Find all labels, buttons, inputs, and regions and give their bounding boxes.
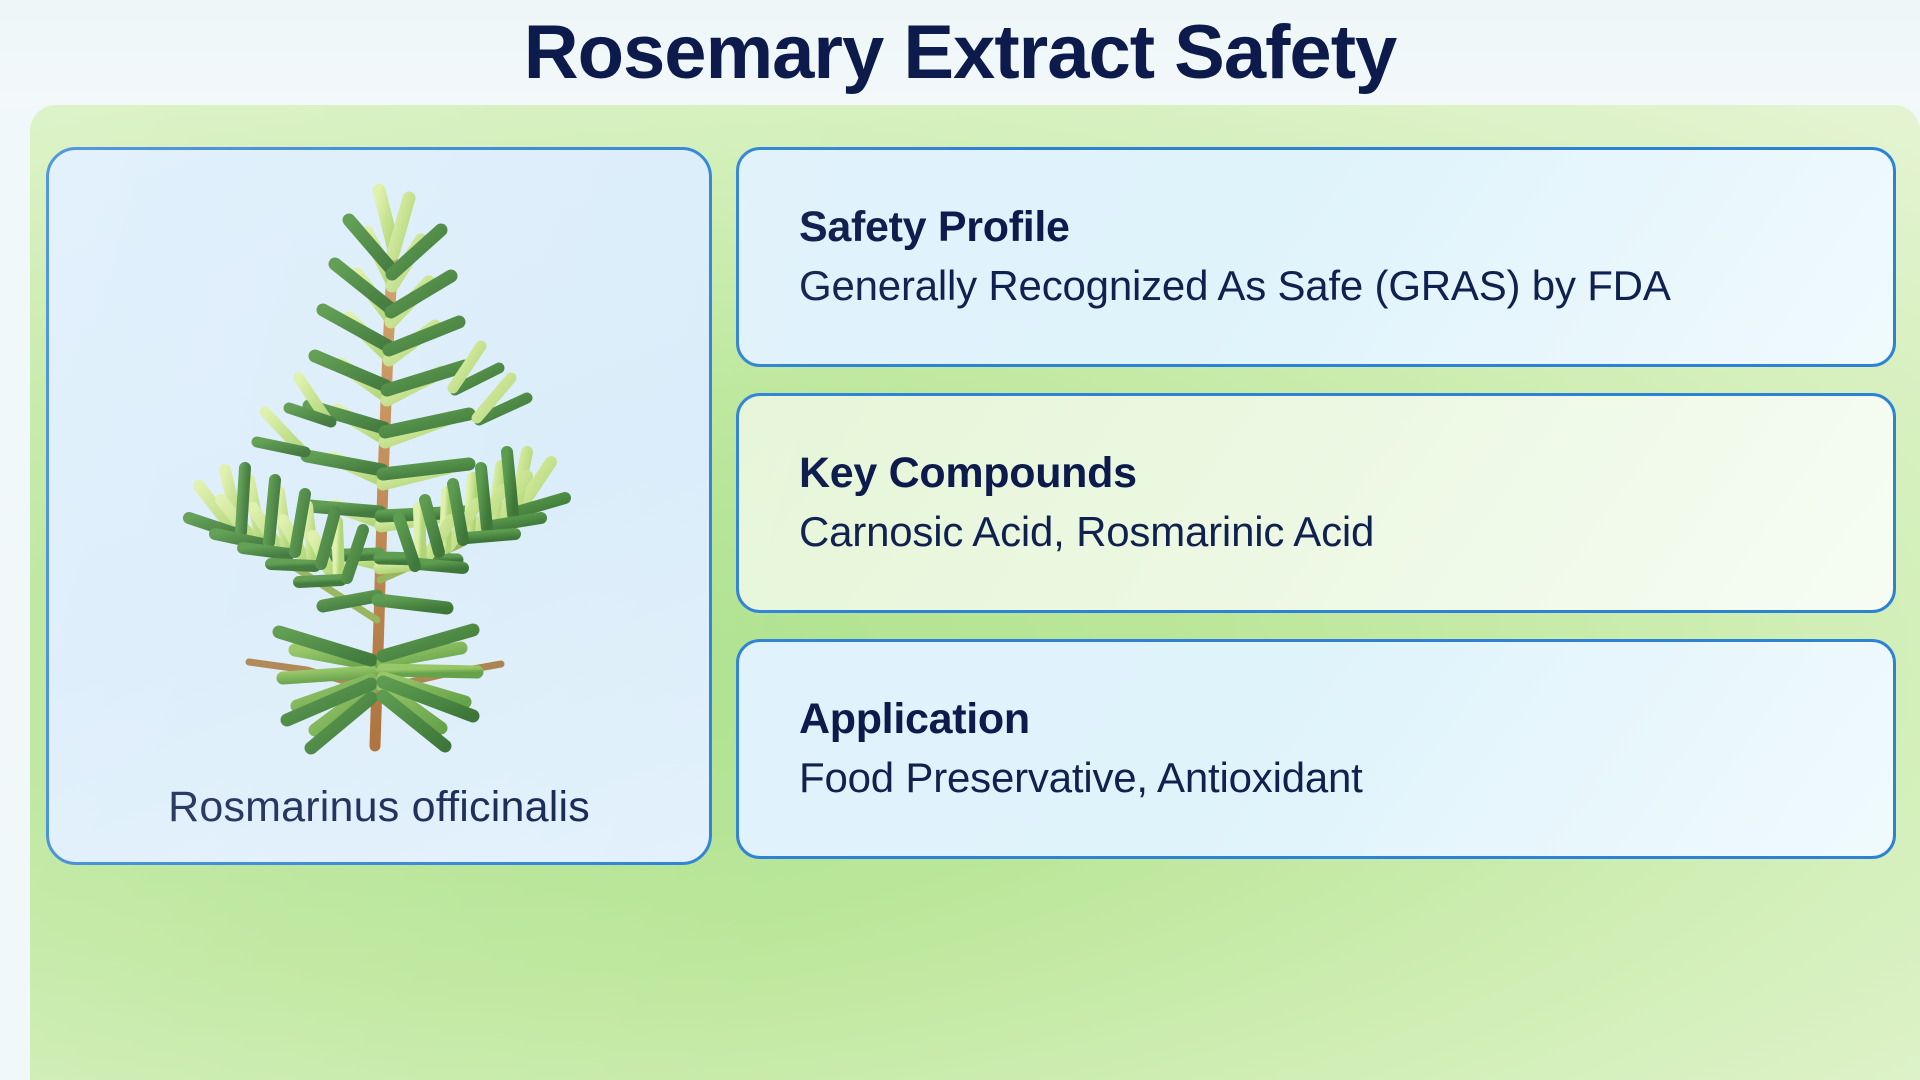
rosemary-sprig-illustration bbox=[49, 150, 709, 770]
title-bar: Rosemary Extract Safety bbox=[0, 0, 1920, 105]
page-title: Rosemary Extract Safety bbox=[524, 15, 1397, 91]
content-stage: Rosmarinus officinalis Safety Profile Ge… bbox=[30, 105, 1920, 1080]
species-caption: Rosmarinus officinalis bbox=[49, 783, 709, 832]
card-body: Generally Recognized As Safe (GRAS) by F… bbox=[799, 260, 1833, 311]
card-title: Key Compounds bbox=[799, 451, 1833, 496]
card-application[interactable]: Application Food Preservative, Antioxida… bbox=[736, 639, 1896, 859]
card-safety-profile[interactable]: Safety Profile Generally Recognized As S… bbox=[736, 147, 1896, 367]
info-card-list: Safety Profile Generally Recognized As S… bbox=[736, 147, 1896, 859]
card-key-compounds[interactable]: Key Compounds Carnosic Acid, Rosmarinic … bbox=[736, 393, 1896, 613]
card-title: Safety Profile bbox=[799, 205, 1833, 250]
plant-image-card: Rosmarinus officinalis bbox=[46, 147, 712, 865]
card-body: Carnosic Acid, Rosmarinic Acid bbox=[799, 506, 1833, 557]
card-title: Application bbox=[799, 697, 1833, 742]
card-body: Food Preservative, Antioxidant bbox=[799, 752, 1833, 803]
